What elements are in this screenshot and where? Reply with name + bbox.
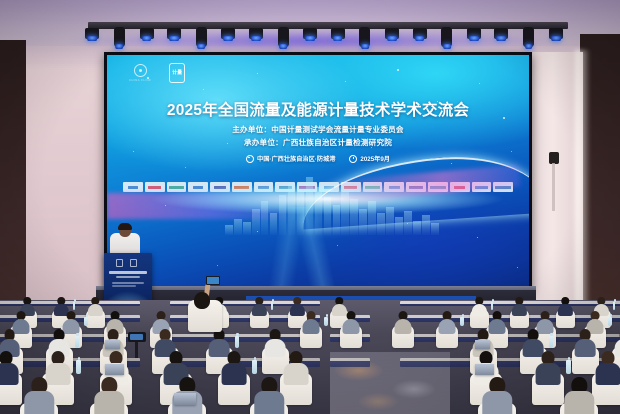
water-bottle (566, 360, 571, 374)
stage-light-lens (333, 36, 343, 41)
wall-cable (552, 163, 555, 211)
audience-member (575, 329, 597, 361)
audience-member (88, 297, 103, 319)
date-text: 2025年9月 (360, 154, 390, 163)
audience-torso (0, 363, 19, 385)
table-row-4 (330, 358, 370, 368)
audience-member (221, 351, 247, 390)
audience-torso (284, 363, 309, 385)
water-bottle (613, 302, 616, 310)
conference-title: 2025年全国流量及能源计量技术学术交流会 (107, 98, 529, 120)
screen-particle (479, 83, 480, 84)
table-row-1 (400, 301, 620, 307)
audience-member (394, 311, 412, 338)
stage-light-16 (494, 28, 508, 39)
laptop (174, 393, 196, 406)
stage-light-lens (142, 36, 152, 41)
audience-member (472, 297, 487, 319)
stage-light-lens (551, 36, 561, 41)
audience-member (342, 311, 360, 338)
audience-member (558, 297, 573, 319)
stage-light-lens (115, 44, 123, 49)
stage-light-10 (331, 28, 345, 39)
screen-particle (307, 159, 308, 160)
audience-member (512, 297, 527, 319)
audience-torso (512, 304, 526, 316)
audience-torso (24, 391, 53, 414)
led-screen: CHINA FLOW 计量 2025年全国流量及能源计量技术学术交流会 主办单位… (107, 55, 529, 287)
audience-torso (536, 363, 561, 385)
water-bottle (235, 336, 239, 348)
water-bottle (84, 317, 87, 327)
stage-light-lens (197, 44, 205, 49)
water-bottle (76, 360, 81, 374)
audience-member (302, 311, 320, 338)
screen-particle (397, 69, 399, 71)
audience-torso (558, 304, 572, 316)
screen-particle (217, 265, 218, 266)
stage-light-lens (224, 36, 234, 41)
water-bottle (252, 360, 257, 374)
stage-light-9 (303, 28, 317, 39)
date-item: 2025年9月 (349, 154, 390, 163)
water-bottle (460, 317, 463, 327)
organizer-circle-logo: CHINA FLOW (129, 64, 151, 82)
stage-light-lens (497, 36, 507, 41)
audience-member (252, 297, 267, 319)
laptop (475, 364, 493, 375)
audience-torso (222, 363, 247, 385)
audience-torso (94, 391, 123, 414)
audience-torso (575, 339, 596, 357)
camera-tripod (135, 342, 138, 358)
audience-torso (482, 391, 511, 414)
stage-light-lens (251, 36, 261, 41)
circle-logo-ring (134, 64, 147, 77)
screen-particle (185, 167, 186, 168)
screen-particle (293, 125, 294, 126)
stage-light-12 (385, 28, 399, 39)
stage-light-lens (305, 36, 315, 41)
stage-light-lens (279, 44, 287, 49)
presenter-hair (118, 223, 132, 230)
organizer-line: 主办单位：中国计量测试学会流量计量专业委员会 (107, 124, 529, 135)
stage-light-8 (278, 27, 289, 47)
audience-member (94, 377, 125, 414)
podium-title-bar (109, 271, 147, 274)
video-camera (128, 332, 146, 342)
stage-light-6 (221, 28, 235, 39)
raised-phone (206, 276, 220, 285)
stage-light-15 (467, 28, 481, 39)
stage-light-lens (443, 44, 451, 49)
podium-text-bar-2 (112, 285, 136, 287)
podium-subtitle-bar (116, 276, 140, 278)
podium-logos (116, 259, 137, 267)
audience-member (438, 311, 456, 338)
audience-torso (564, 391, 593, 414)
stage-light-11 (359, 27, 370, 47)
badge-logo-text: 计量 (172, 71, 182, 76)
podium-text-bar-1 (112, 282, 144, 284)
clock-icon (349, 155, 357, 163)
water-bottle (324, 317, 327, 327)
conference-photo: CHINA FLOW 计量 2025年全国流量及能源计量技术学术交流会 主办单位… (0, 0, 620, 414)
water-bottle (75, 336, 79, 348)
stage-light-4 (167, 28, 181, 39)
screen-particle (511, 151, 512, 152)
audience-torso (395, 319, 412, 334)
water-bottle (549, 336, 553, 348)
stage-light-3 (140, 28, 154, 39)
audience-member (283, 351, 309, 390)
screen-particle (503, 117, 505, 119)
audience-member (535, 351, 561, 390)
audience-torso (252, 304, 266, 316)
stage-light-lens (87, 36, 97, 41)
circle-logo-text: CHINA FLOW (129, 79, 151, 82)
led-screen-frame: CHINA FLOW 计量 2025年全国流量及能源计量技术学术交流会 主办单位… (104, 52, 532, 290)
audience-torso (472, 304, 486, 316)
audience-member (482, 377, 513, 414)
water-bottle (271, 302, 274, 310)
audience-torso (254, 391, 283, 414)
stage-light-17 (523, 27, 534, 47)
screen-particle (337, 245, 338, 246)
audience-torso (596, 363, 620, 385)
host-line: 承办单位：广西壮族自治区计量检测研究院 (107, 137, 529, 148)
stage-light-lens (525, 44, 533, 49)
stage-light-2 (114, 27, 125, 47)
screen-logos: CHINA FLOW 计量 (129, 63, 185, 83)
table-row-3 (170, 334, 320, 342)
stage-light-7 (249, 28, 263, 39)
screen-particle (203, 89, 204, 90)
stage-light-13 (413, 28, 427, 39)
audience-torso (439, 319, 456, 334)
stage-light-lens (169, 36, 179, 41)
screen-light-rays (107, 207, 529, 287)
screen-particle (147, 77, 149, 79)
audience-torso (303, 319, 320, 334)
stage-light-18 (549, 28, 563, 39)
audience-member (254, 377, 285, 414)
water-bottle (491, 302, 494, 310)
stage-light-5 (196, 27, 207, 47)
metrology-badge-logo: 计量 (169, 63, 185, 83)
stage-light-lens (415, 36, 425, 41)
laptop (105, 364, 123, 375)
map-pin-icon (246, 155, 254, 163)
audience-member (564, 377, 595, 414)
laptop (475, 340, 490, 349)
audience-torso (343, 319, 360, 334)
audience-member (595, 351, 620, 390)
stage-light-lens (361, 44, 369, 49)
water-bottle (608, 317, 611, 327)
stage-light-lens (387, 36, 397, 41)
water-bottle (73, 302, 76, 310)
wall-panel-left (0, 40, 26, 340)
location-item: 中国·广西壮族自治区·防城港 (246, 154, 335, 163)
stage-light-14 (441, 27, 452, 47)
stage-light-lens (469, 36, 479, 41)
audience-member (24, 377, 55, 414)
photographer-head (194, 292, 210, 309)
audience-member (0, 351, 19, 390)
location-text: 中国·广西壮族自治区·防城港 (257, 154, 335, 163)
audience-torso (88, 304, 102, 316)
stage-light-1 (85, 28, 99, 39)
laptop (105, 340, 120, 349)
